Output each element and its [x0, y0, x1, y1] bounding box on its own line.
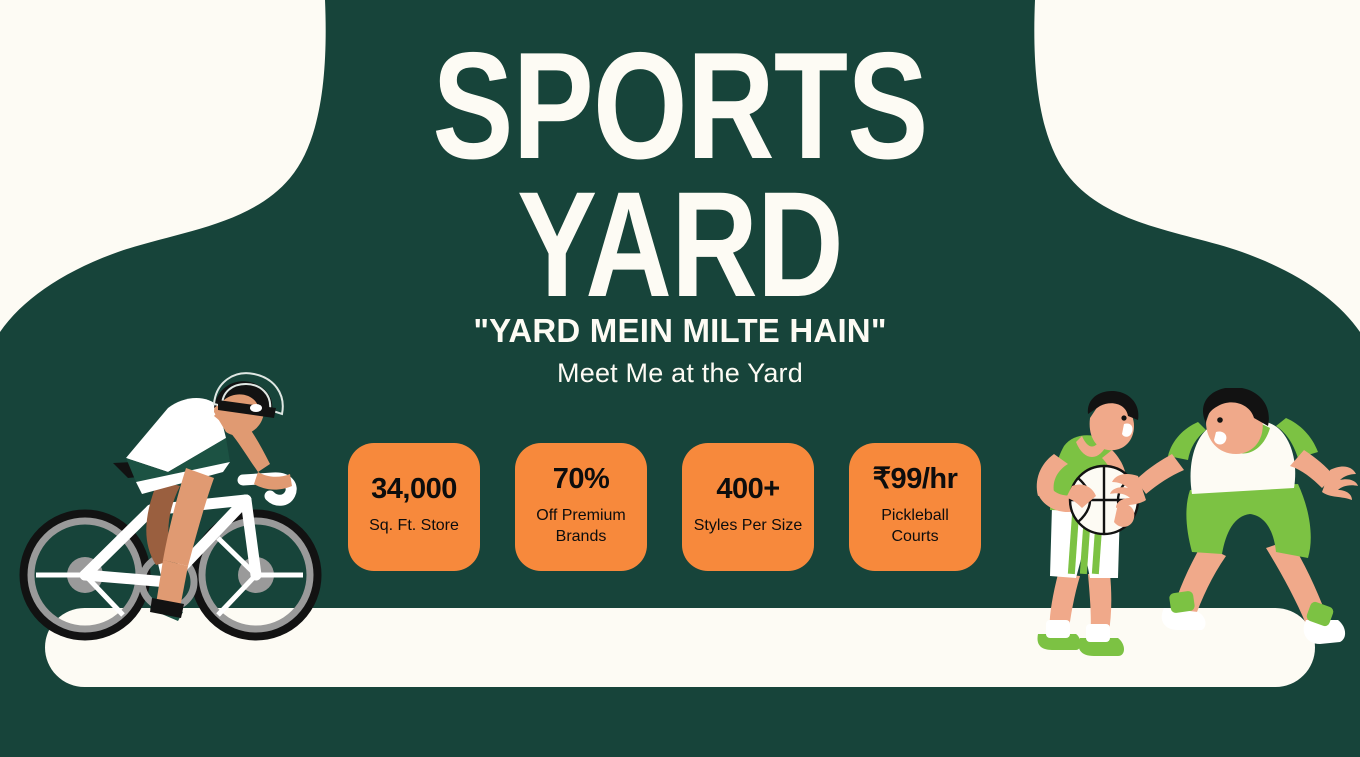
basketball-player-one: [1037, 391, 1139, 656]
p1-eye: [1121, 415, 1126, 420]
p2-eye: [1217, 417, 1223, 423]
stat-card[interactable]: 400+ Styles Per Size: [682, 443, 814, 571]
stat-value: ₹99/hr: [873, 465, 958, 494]
cyclist-illustration: [18, 360, 348, 672]
stat-value: 400+: [716, 475, 779, 504]
p1-left-sock: [1046, 620, 1070, 638]
stat-value: 70%: [553, 465, 610, 494]
basketball-players-illustration: [1020, 388, 1360, 670]
p2-left-arm: [1136, 454, 1184, 494]
stat-value: 34,000: [371, 475, 457, 504]
stat-card-list: 34,000 Sq. Ft. Store 70% Off Premium Bra…: [348, 443, 981, 571]
stat-card[interactable]: 70% Off Premium Brands: [515, 443, 647, 571]
stat-label: Off Premium Brands: [522, 505, 640, 547]
stat-card[interactable]: 34,000 Sq. Ft. Store: [348, 443, 480, 571]
p1-right-sock: [1086, 624, 1110, 642]
rider-eye: [250, 404, 262, 412]
tagline-primary: "YARD MEIN MILTE HAIN": [0, 312, 1360, 351]
basketball-player-two: [1110, 388, 1358, 644]
stat-label: Styles Per Size: [694, 515, 802, 536]
stat-label: Pickleball Courts: [856, 505, 974, 547]
stat-card[interactable]: ₹99/hr Pickleball Courts: [849, 443, 981, 571]
stat-label: Sq. Ft. Store: [369, 515, 459, 536]
sports-yard-promo-banner: SPORTS YARD "YARD MEIN MILTE HAIN" Meet …: [0, 0, 1360, 757]
p2-shorts: [1186, 484, 1310, 558]
p2-back-sock: [1169, 590, 1196, 613]
